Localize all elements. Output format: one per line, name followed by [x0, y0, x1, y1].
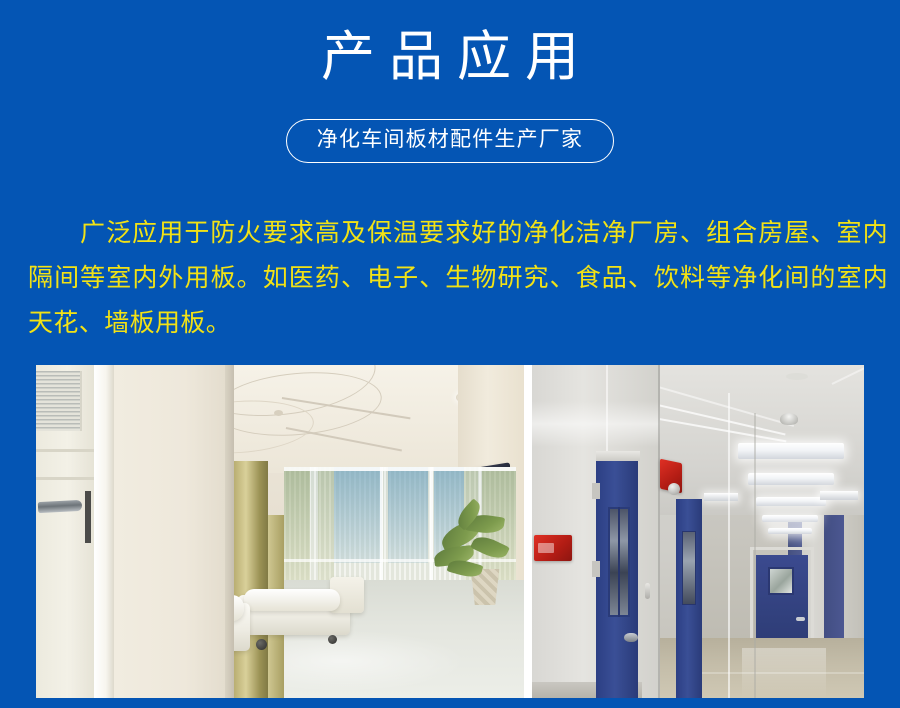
image-gallery: [36, 365, 864, 698]
door-seam: [36, 477, 94, 480]
fire-alarm-label: [538, 543, 554, 553]
door-jamb: [94, 365, 114, 698]
fluorescent-fixture: [768, 528, 812, 534]
bed-caster-icon: [256, 639, 267, 650]
fluorescent-fixture: [704, 493, 738, 501]
hospital-ward-photo: [36, 365, 524, 698]
smoke-detector-icon: [786, 373, 808, 380]
wall-corner-edge: [225, 365, 234, 698]
ward-scene: [36, 365, 524, 698]
curtain-blue-panel: [334, 467, 382, 563]
hospital-bed-rail: [244, 589, 340, 611]
description-paragraph: 广泛应用于防火要求高及保温要求好的净化洁净厂房、组合房屋、室内隔间等室内外用板。…: [28, 211, 888, 346]
subtitle-pill-container: 净化车间板材配件生产厂家: [0, 119, 900, 163]
ceiling-vent-icon: [274, 410, 283, 416]
panel-seam: [728, 393, 730, 698]
wall-sheen: [532, 401, 660, 447]
fluorescent-fixture: [762, 515, 818, 522]
corridor-scene: [532, 365, 864, 698]
door-handle-icon: [624, 633, 638, 642]
curtain-rail: [284, 559, 516, 562]
sprinkler-head-icon: [780, 413, 798, 425]
door-strike-plate: [85, 491, 91, 543]
door-vision-panel: [682, 531, 696, 605]
page-title: 产品应用: [0, 26, 900, 88]
curtain-blue-panel: [388, 467, 428, 563]
door-handle-icon: [38, 500, 83, 513]
subtitle-pill: 净化车间板材配件生产厂家: [286, 119, 614, 163]
curtain-rail: [284, 467, 516, 471]
fluorescent-fixture: [748, 473, 834, 485]
fluorescent-fixture: [820, 491, 858, 500]
door-hinge-icon: [592, 483, 600, 499]
product-application-page: 产品应用 净化车间板材配件生产厂家 广泛应用于防火要求高及保温要求好的净化洁净厂…: [0, 0, 900, 708]
panel-seam: [754, 413, 756, 698]
cream-wall-panel: [114, 365, 232, 698]
panel-seam: [658, 365, 660, 698]
door-pull-icon: [645, 583, 650, 599]
door-vision-panel: [768, 567, 794, 595]
fluorescent-fixture: [756, 497, 826, 506]
door-vent-icon: [36, 371, 82, 431]
cleanroom-corridor-photo: [532, 365, 864, 698]
vision-panel-mullion: [618, 507, 620, 617]
door-hinge-icon: [592, 561, 600, 577]
door-seam: [36, 449, 94, 452]
bed-caster-icon: [328, 635, 337, 644]
door-handle-icon: [796, 617, 805, 621]
alarm-bell-icon: [668, 483, 680, 495]
floor-seam: [702, 672, 864, 674]
olive-column: [234, 461, 268, 698]
door-transom: [596, 451, 640, 461]
